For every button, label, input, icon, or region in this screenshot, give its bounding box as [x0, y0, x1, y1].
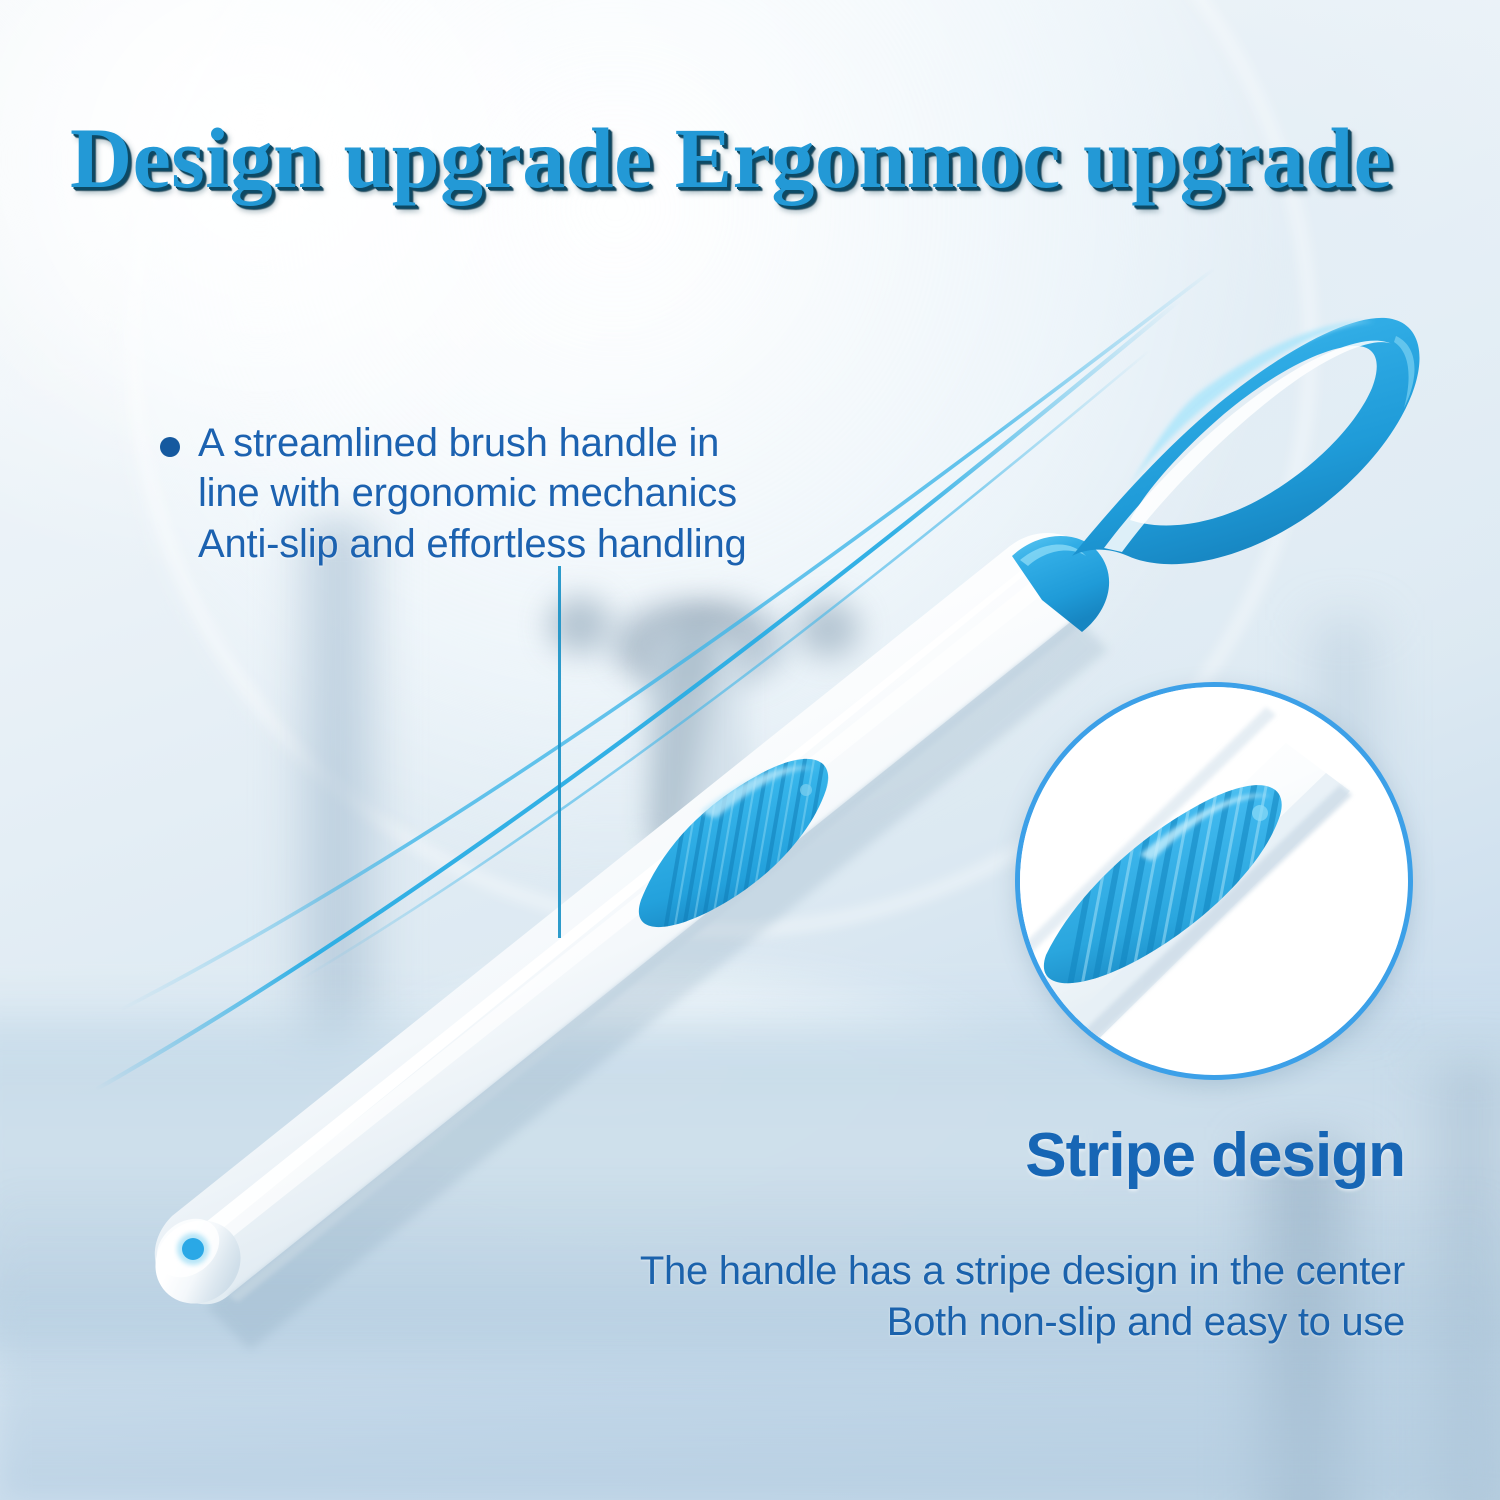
- page-title: Design upgrade Ergonmoc upgrade: [70, 108, 1450, 208]
- zoom-inset-image: [1020, 687, 1398, 1065]
- handle-shaft: [139, 533, 1093, 1321]
- bullet-dot-icon: [160, 437, 180, 457]
- product-shadow: [206, 600, 1108, 1350]
- stripe-caption-line-1: The handle has a stripe design in the ce…: [420, 1246, 1405, 1297]
- feature-line-2: line with ergonomic mechanics: [198, 468, 747, 518]
- stripe-caption-line-2: Both non-slip and easy to use: [420, 1297, 1405, 1348]
- feature-callout: A streamlined brush handle in line with …: [160, 418, 860, 569]
- zoom-inset-circle: [1015, 682, 1413, 1080]
- stripe-design-heading: Stripe design: [560, 1120, 1405, 1191]
- feature-line-1: A streamlined brush handle in: [198, 418, 747, 468]
- scraper-head-loop: [1072, 318, 1420, 564]
- feature-line-3: Anti-slip and effortless handling: [198, 519, 747, 569]
- feature-callout-text: A streamlined brush handle in line with …: [198, 418, 747, 569]
- handle-tip-dot: [177, 1233, 209, 1265]
- infographic-canvas: Design upgrade Ergonmoc upgrade A stream…: [0, 0, 1500, 1500]
- stripe-design-caption: The handle has a stripe design in the ce…: [420, 1246, 1405, 1348]
- callout-leader-line: [558, 566, 561, 938]
